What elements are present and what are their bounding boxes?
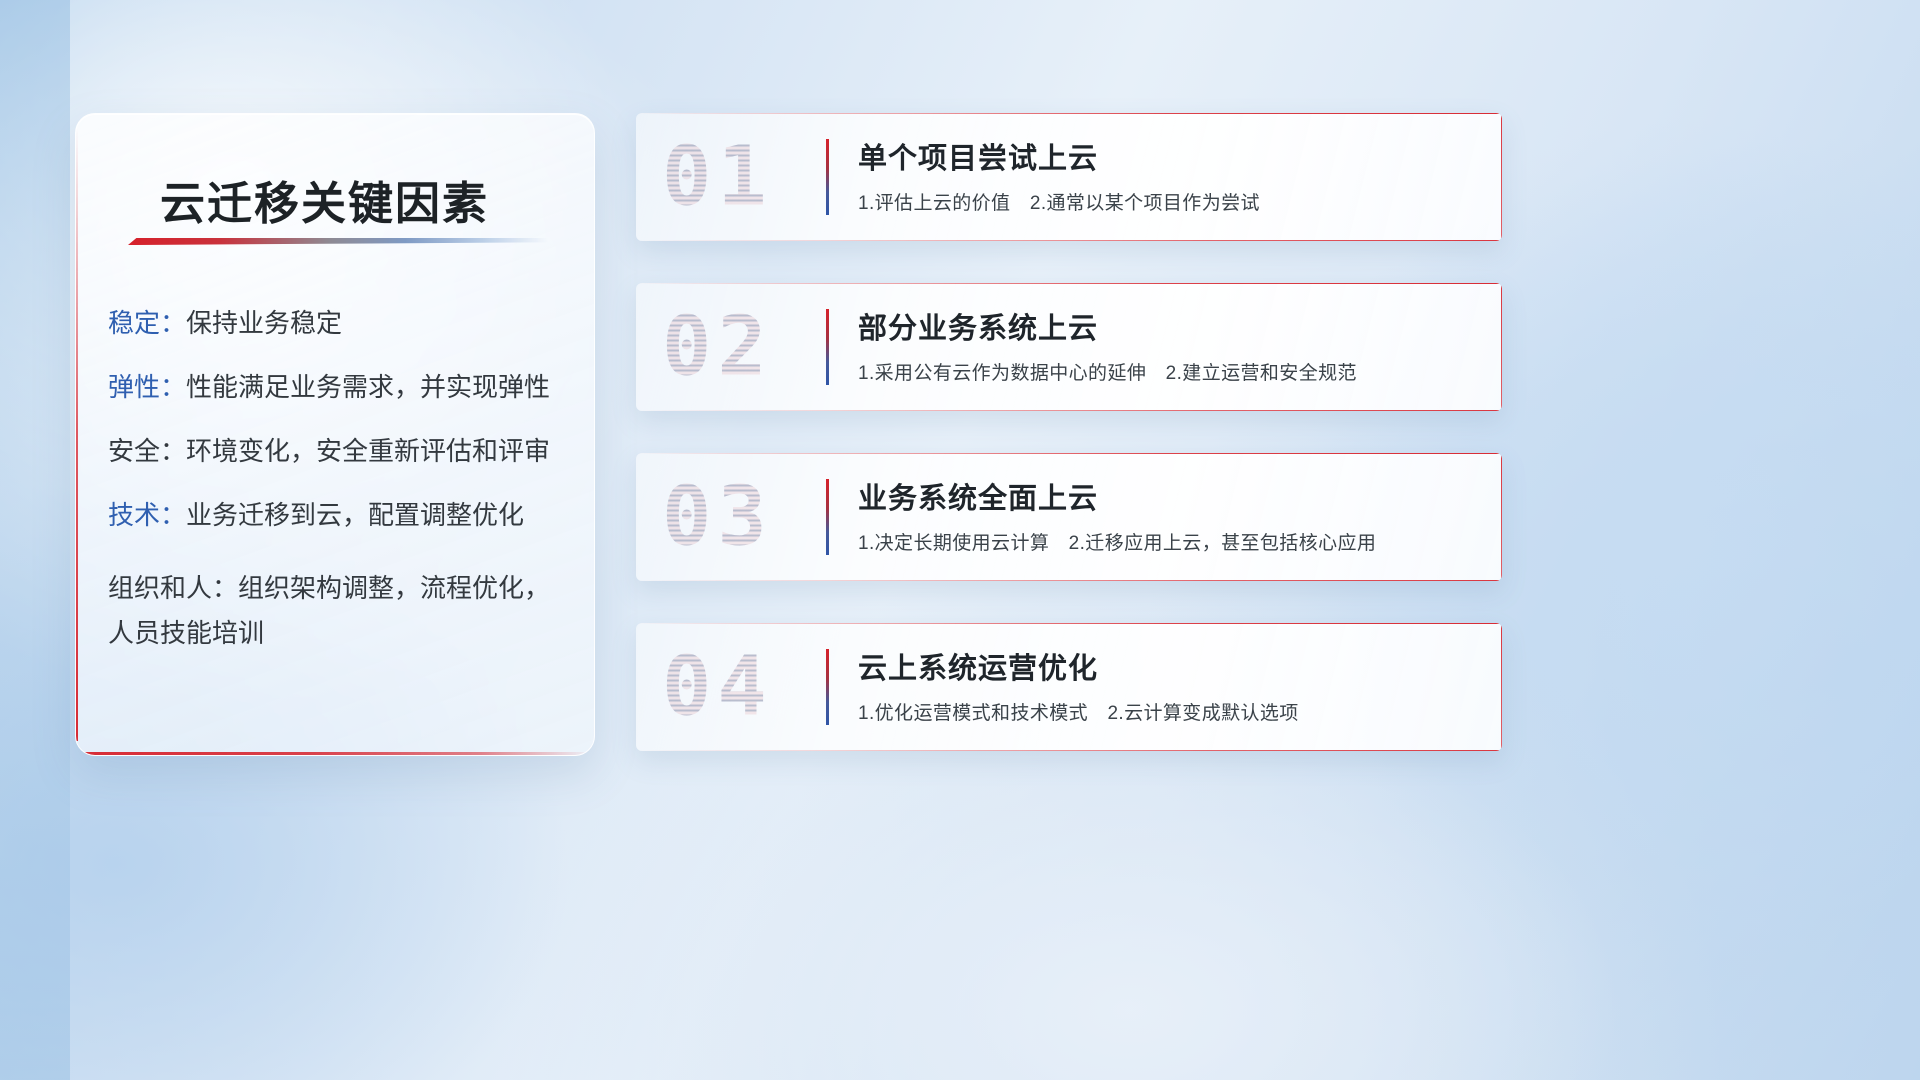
card-title: 单个项目尝试上云 — [858, 135, 1098, 177]
key-factor-label: 组织和人： — [108, 573, 238, 603]
key-factor-row: 安全：环境变化，安全重新评估和评审 — [108, 438, 570, 464]
title-underline-gradient — [128, 238, 548, 245]
slide-stage: 云迁移关键因素 稳定：保持业务稳定弹性：性能满足业务需求，并实现弹性安全：环境变… — [0, 0, 1920, 1080]
page-title: 云迁移关键因素 — [160, 167, 489, 232]
key-factor-text: 环境变化，安全重新评估和评审 — [186, 438, 550, 464]
card-top-accent-line — [636, 453, 1502, 454]
key-factors-panel: 云迁移关键因素 稳定：保持业务稳定弹性：性能满足业务需求，并实现弹性安全：环境变… — [75, 113, 595, 756]
key-factor-label: 弹性： — [108, 374, 186, 400]
card-number-ghost: 04 — [662, 640, 773, 735]
card-description: 1.决定长期使用云计算 2.迁移应用上云，甚至包括核心应用 — [858, 528, 1376, 555]
stage-card[interactable]: 0303业务系统全面上云1.决定长期使用云计算 2.迁移应用上云，甚至包括核心应… — [636, 453, 1502, 581]
key-factors-list: 稳定：保持业务稳定弹性：性能满足业务需求，并实现弹性安全：环境变化，安全重新评估… — [108, 310, 570, 655]
stage-card[interactable]: 0202部分业务系统上云1.采用公有云作为数据中心的延伸 2.建立运营和安全规范 — [636, 283, 1502, 411]
card-description: 1.优化运营模式和技术模式 2.云计算变成默认选项 — [858, 698, 1299, 725]
card-description: 1.采用公有云作为数据中心的延伸 2.建立运营和安全规范 — [858, 358, 1357, 385]
key-factor-label: 技术： — [108, 502, 186, 528]
card-bottom-accent-line — [636, 580, 1502, 581]
card-accent-bar — [826, 139, 829, 215]
card-title: 云上系统运营优化 — [858, 645, 1098, 687]
key-factor-text: 性能满足业务需求，并实现弹性 — [186, 374, 550, 400]
card-title: 业务系统全面上云 — [858, 475, 1098, 517]
card-title: 部分业务系统上云 — [858, 305, 1098, 347]
card-number-ghost: 01 — [662, 130, 773, 225]
key-factor-row: 弹性：性能满足业务需求，并实现弹性 — [108, 374, 570, 400]
key-factor-label: 安全： — [108, 438, 186, 464]
card-accent-bar — [826, 309, 829, 385]
card-accent-bar — [826, 479, 829, 555]
card-bottom-accent-line — [636, 240, 1502, 241]
key-factor-label: 稳定： — [108, 310, 186, 336]
card-number-ghost: 03 — [662, 470, 773, 565]
key-factor-row: 组织和人：组织架构调整，流程优化，人员技能培训 — [108, 566, 570, 655]
stage-card[interactable]: 0101单个项目尝试上云1.评估上云的价值 2.通常以某个项目作为尝试 — [636, 113, 1502, 241]
stage-card[interactable]: 0404云上系统运营优化1.优化运营模式和技术模式 2.云计算变成默认选项 — [636, 623, 1502, 751]
card-top-accent-line — [636, 113, 1502, 114]
card-number-ghost: 02 — [662, 300, 773, 395]
key-factor-text: 业务迁移到云，配置调整优化 — [186, 502, 524, 528]
card-description: 1.评估上云的价值 2.通常以某个项目作为尝试 — [858, 188, 1260, 215]
card-top-accent-line — [636, 623, 1502, 624]
key-factor-row: 稳定：保持业务稳定 — [108, 310, 570, 336]
card-accent-bar — [826, 649, 829, 725]
card-bottom-accent-line — [636, 750, 1502, 751]
card-bottom-accent-line — [636, 410, 1502, 411]
stage-cards-list: 0101单个项目尝试上云1.评估上云的价值 2.通常以某个项目作为尝试0202部… — [636, 113, 1502, 793]
key-factor-text: 保持业务稳定 — [186, 310, 342, 336]
key-factor-row: 技术：业务迁移到云，配置调整优化 — [108, 502, 570, 528]
card-top-accent-line — [636, 283, 1502, 284]
